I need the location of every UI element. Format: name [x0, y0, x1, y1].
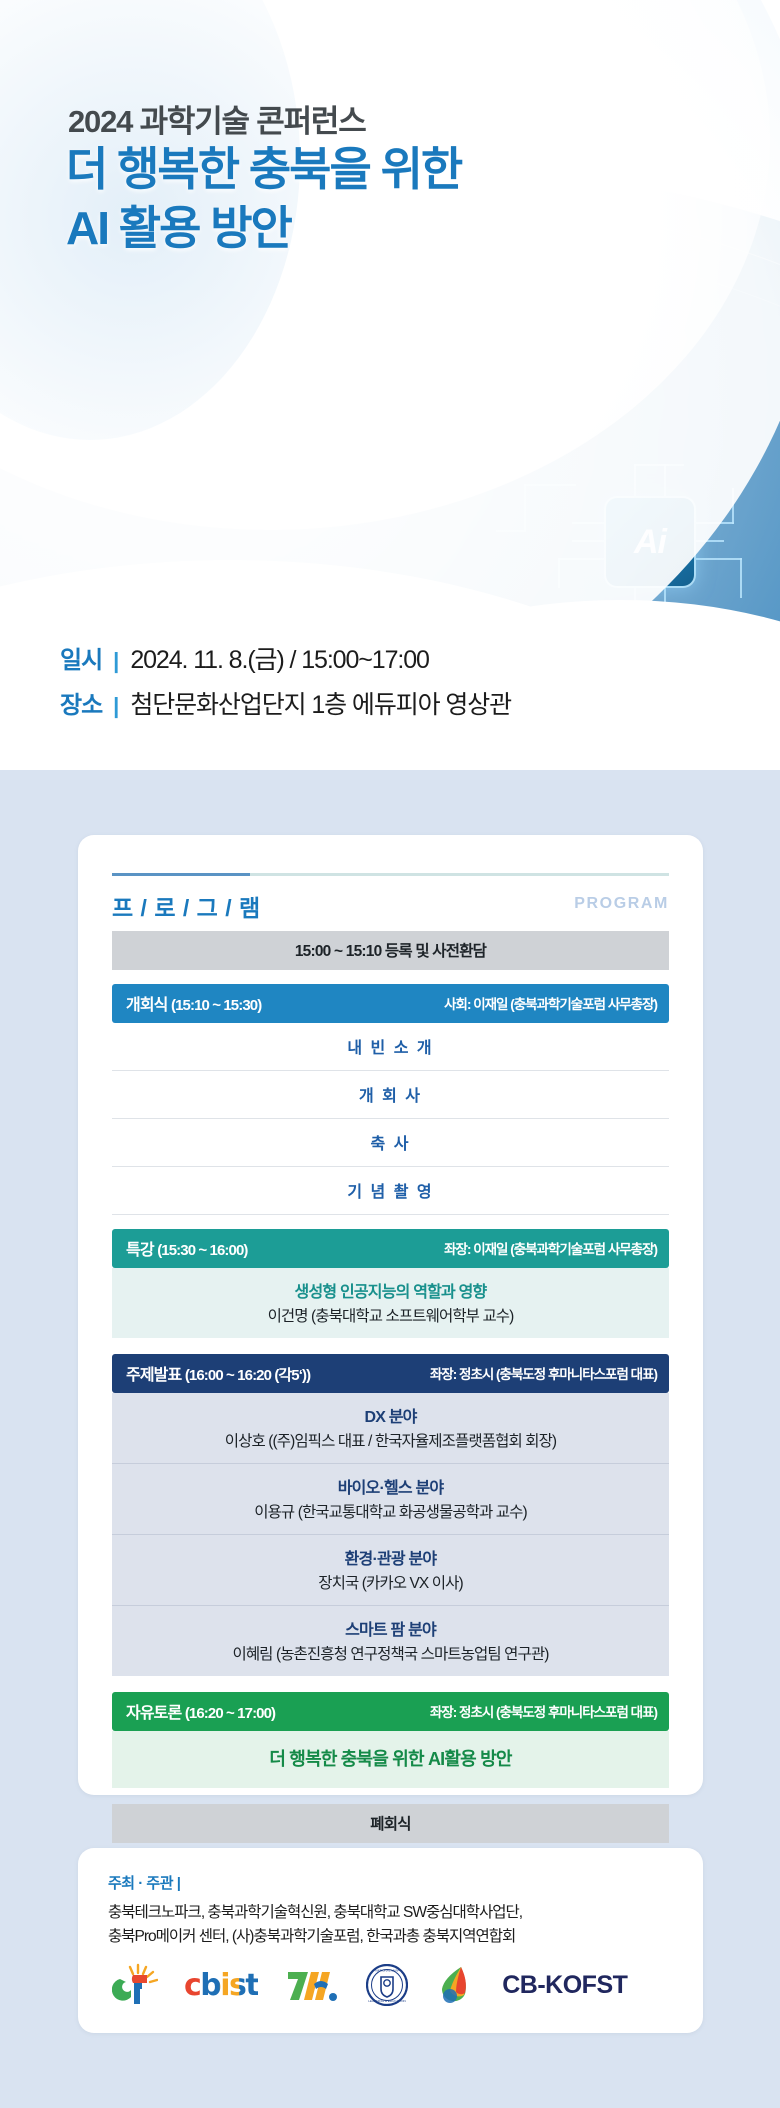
event-place-row: 장소 | 첨단문화산업단지 1층 에듀피아 영상관	[60, 685, 511, 721]
presentation-speaker-1: 이상호 ((주)임픽스 대표 / 한국자율제조플랫폼협회 회장)	[112, 1429, 669, 1451]
program-row-closing: 폐회식	[112, 1804, 669, 1843]
session-lecture-name: 특강	[126, 1242, 154, 1259]
program-title: 프 / 로 / 그 / 램	[112, 889, 261, 923]
program-title-en: PROGRAM	[574, 895, 669, 913]
hero-kicker: 2024 과학기술 콘퍼런스	[68, 96, 366, 141]
presentation-speaker-4: 이혜림 (농촌진흥청 연구정책국 스마트농업팀 연구관)	[112, 1642, 669, 1664]
lecture-speaker: 이건명 (충북대학교 소프트웨어학부 교수)	[112, 1304, 669, 1326]
session-discussion-title: 자유토론 (16:20 ~ 17:00)	[126, 1699, 275, 1723]
session-lecture-title: 특강 (15:30 ~ 16:00)	[126, 1236, 248, 1260]
presentation-topic-1: DX 분야	[112, 1403, 669, 1427]
chungbuk-technopark-logo	[112, 1963, 158, 2007]
session-bar-presentations: 주제발표 (16:00 ~ 16:20 (각5‘)) 좌장: 정초시 (충북도정…	[112, 1354, 669, 1393]
cbist-logo: cbist	[184, 1963, 258, 2007]
organizers-line-2: 충북Pro메이커 센터, (사)충북과학기술포럼, 한국과총 충북지역연합회	[108, 1925, 673, 1949]
lecture-topic: 생성형 인공지능의 역할과 영향	[112, 1278, 669, 1302]
organizers-label: 주최 · 주관 |	[108, 1872, 673, 1893]
presentation-topic-3: 환경·관광 분야	[112, 1545, 669, 1569]
conference-poster: Ai 2024 과학기술 콘퍼런스 더 행복한 충북을 위한AI 활용 방안 일…	[0, 0, 780, 2108]
spacer	[112, 1676, 669, 1692]
kofst-flame-logo	[434, 1963, 476, 2007]
date-separator-icon: |	[113, 648, 119, 674]
cb-kofst-logo: CB-KOFST	[502, 1963, 627, 2007]
session-presentations-title: 주제발표 (16:00 ~ 16:20 (각5‘))	[126, 1361, 310, 1385]
presentation-item-3: 환경·관광 분야 장치국 (카카오 VX 이사)	[112, 1534, 669, 1605]
sw-university-logo	[284, 1963, 340, 2007]
event-place-value: 첨단문화산업단지 1층 에듀피아 영상관	[130, 685, 511, 721]
cbist-logo-text: cbist	[184, 1968, 258, 2003]
event-date-label: 일시	[60, 640, 102, 675]
opening-item-1: 내 빈 소 개	[112, 1023, 669, 1071]
svg-text:NATIONAL UNIV: NATIONAL UNIV	[376, 1969, 400, 1973]
session-opening-name: 개회식	[126, 997, 167, 1014]
session-bar-discussion: 자유토론 (16:20 ~ 17:00) 좌장: 정초시 (충북도정 후마니타스…	[112, 1692, 669, 1731]
session-presentations-chair: 좌장: 정초시 (충북도정 후마니타스포럼 대표)	[430, 1363, 657, 1383]
opening-item-2: 개 회 사	[112, 1071, 669, 1119]
organizer-logos: cbist NATIONAL UNIV	[108, 1963, 673, 2007]
presentation-topic-2: 바이오·헬스 분야	[112, 1474, 669, 1498]
spacer	[112, 1215, 669, 1229]
event-place-label: 장소	[60, 685, 102, 720]
place-separator-icon: |	[113, 693, 119, 719]
session-discussion-chair: 좌장: 정초시 (충북도정 후마니타스포럼 대표)	[430, 1701, 657, 1721]
cb-kofst-logo-text: CB-KOFST	[502, 1971, 627, 2000]
session-lecture-chair: 좌장: 이재일 (충북과학기술포럼 사무총장)	[444, 1238, 657, 1258]
svg-text:LEARNING & EDUCATION: LEARNING & EDUCATION	[368, 1999, 406, 2003]
organizers-line-1: 충북테크노파크, 충북과학기술혁신원, 충북대학교 SW중심대학사업단,	[108, 1901, 673, 1925]
event-info: 일시 | 2024. 11. 8.(금) / 15:00~17:00 장소 | …	[60, 640, 511, 730]
discussion-topic: 더 행복한 충북을 위한 AI활용 방안	[112, 1741, 669, 1774]
organizers-card: 주최 · 주관 | 충북테크노파크, 충북과학기술혁신원, 충북대학교 SW중심…	[78, 1848, 703, 2033]
chungbuk-national-university-seal-logo: NATIONAL UNIV LEARNING & EDUCATION	[366, 1963, 408, 2007]
page-title: 더 행복한 충북을 위한AI 활용 방안	[66, 140, 461, 258]
opening-item-4: 기 념 촬 영	[112, 1167, 669, 1215]
hero-banner: Ai 2024 과학기술 콘퍼런스 더 행복한 충북을 위한AI 활용 방안 일…	[0, 0, 780, 770]
hero-title-line1: 더 행복한 충북을 위한	[66, 143, 461, 195]
presentation-item-2: 바이오·헬스 분야 이용규 (한국교통대학교 화공생물공학과 교수)	[112, 1463, 669, 1534]
discussion-content: 더 행복한 충북을 위한 AI활용 방안	[112, 1731, 669, 1788]
session-bar-opening: 개회식 (15:10 ~ 15:30) 사회: 이재일 (충북과학기술포럼 사무…	[112, 984, 669, 1023]
spacer	[112, 1338, 669, 1354]
session-discussion-time: (16:20 ~ 17:00)	[185, 1705, 275, 1722]
session-presentations-time: (16:00 ~ 16:20 (각5‘))	[185, 1367, 310, 1384]
session-presentations-name: 주제발표	[126, 1367, 181, 1384]
presentation-item-4: 스마트 팜 분야 이혜림 (농촌진흥청 연구정책국 스마트농업팀 연구관)	[112, 1605, 669, 1676]
event-date-row: 일시 | 2024. 11. 8.(금) / 15:00~17:00	[60, 640, 511, 676]
presentation-item-1: DX 분야 이상호 ((주)임픽스 대표 / 한국자율제조플랫폼협회 회장)	[112, 1393, 669, 1463]
hero-title-line2: AI 활용 방안	[66, 202, 291, 254]
section-rule-divider	[112, 873, 669, 876]
event-date-value: 2024. 11. 8.(금) / 15:00~17:00	[130, 640, 429, 676]
lecture-content: 생성형 인공지능의 역할과 영향 이건명 (충북대학교 소프트웨어학부 교수)	[112, 1268, 669, 1338]
session-lecture-time: (15:30 ~ 16:00)	[157, 1242, 247, 1259]
program-section-header: 프 / 로 / 그 / 램 PROGRAM	[112, 873, 669, 931]
opening-item-3: 축 사	[112, 1119, 669, 1167]
program-card: 프 / 로 / 그 / 램 PROGRAM 15:00 ~ 15:10 등록 및…	[78, 835, 703, 1795]
session-discussion-name: 자유토론	[126, 1705, 181, 1722]
session-opening-time: (15:10 ~ 15:30)	[171, 997, 261, 1014]
presentation-speaker-3: 장치국 (카카오 VX 이사)	[112, 1571, 669, 1593]
presentation-speaker-2: 이용규 (한국교통대학교 화공생물공학과 교수)	[112, 1500, 669, 1522]
session-opening-title: 개회식 (15:10 ~ 15:30)	[126, 991, 261, 1015]
session-bar-lecture: 특강 (15:30 ~ 16:00) 좌장: 이재일 (충북과학기술포럼 사무총…	[112, 1229, 669, 1268]
program-row-registration: 15:00 ~ 15:10 등록 및 사전환담	[112, 931, 669, 970]
presentation-topic-4: 스마트 팜 분야	[112, 1616, 669, 1640]
session-opening-chair: 사회: 이재일 (충북과학기술포럼 사무총장)	[444, 993, 657, 1013]
